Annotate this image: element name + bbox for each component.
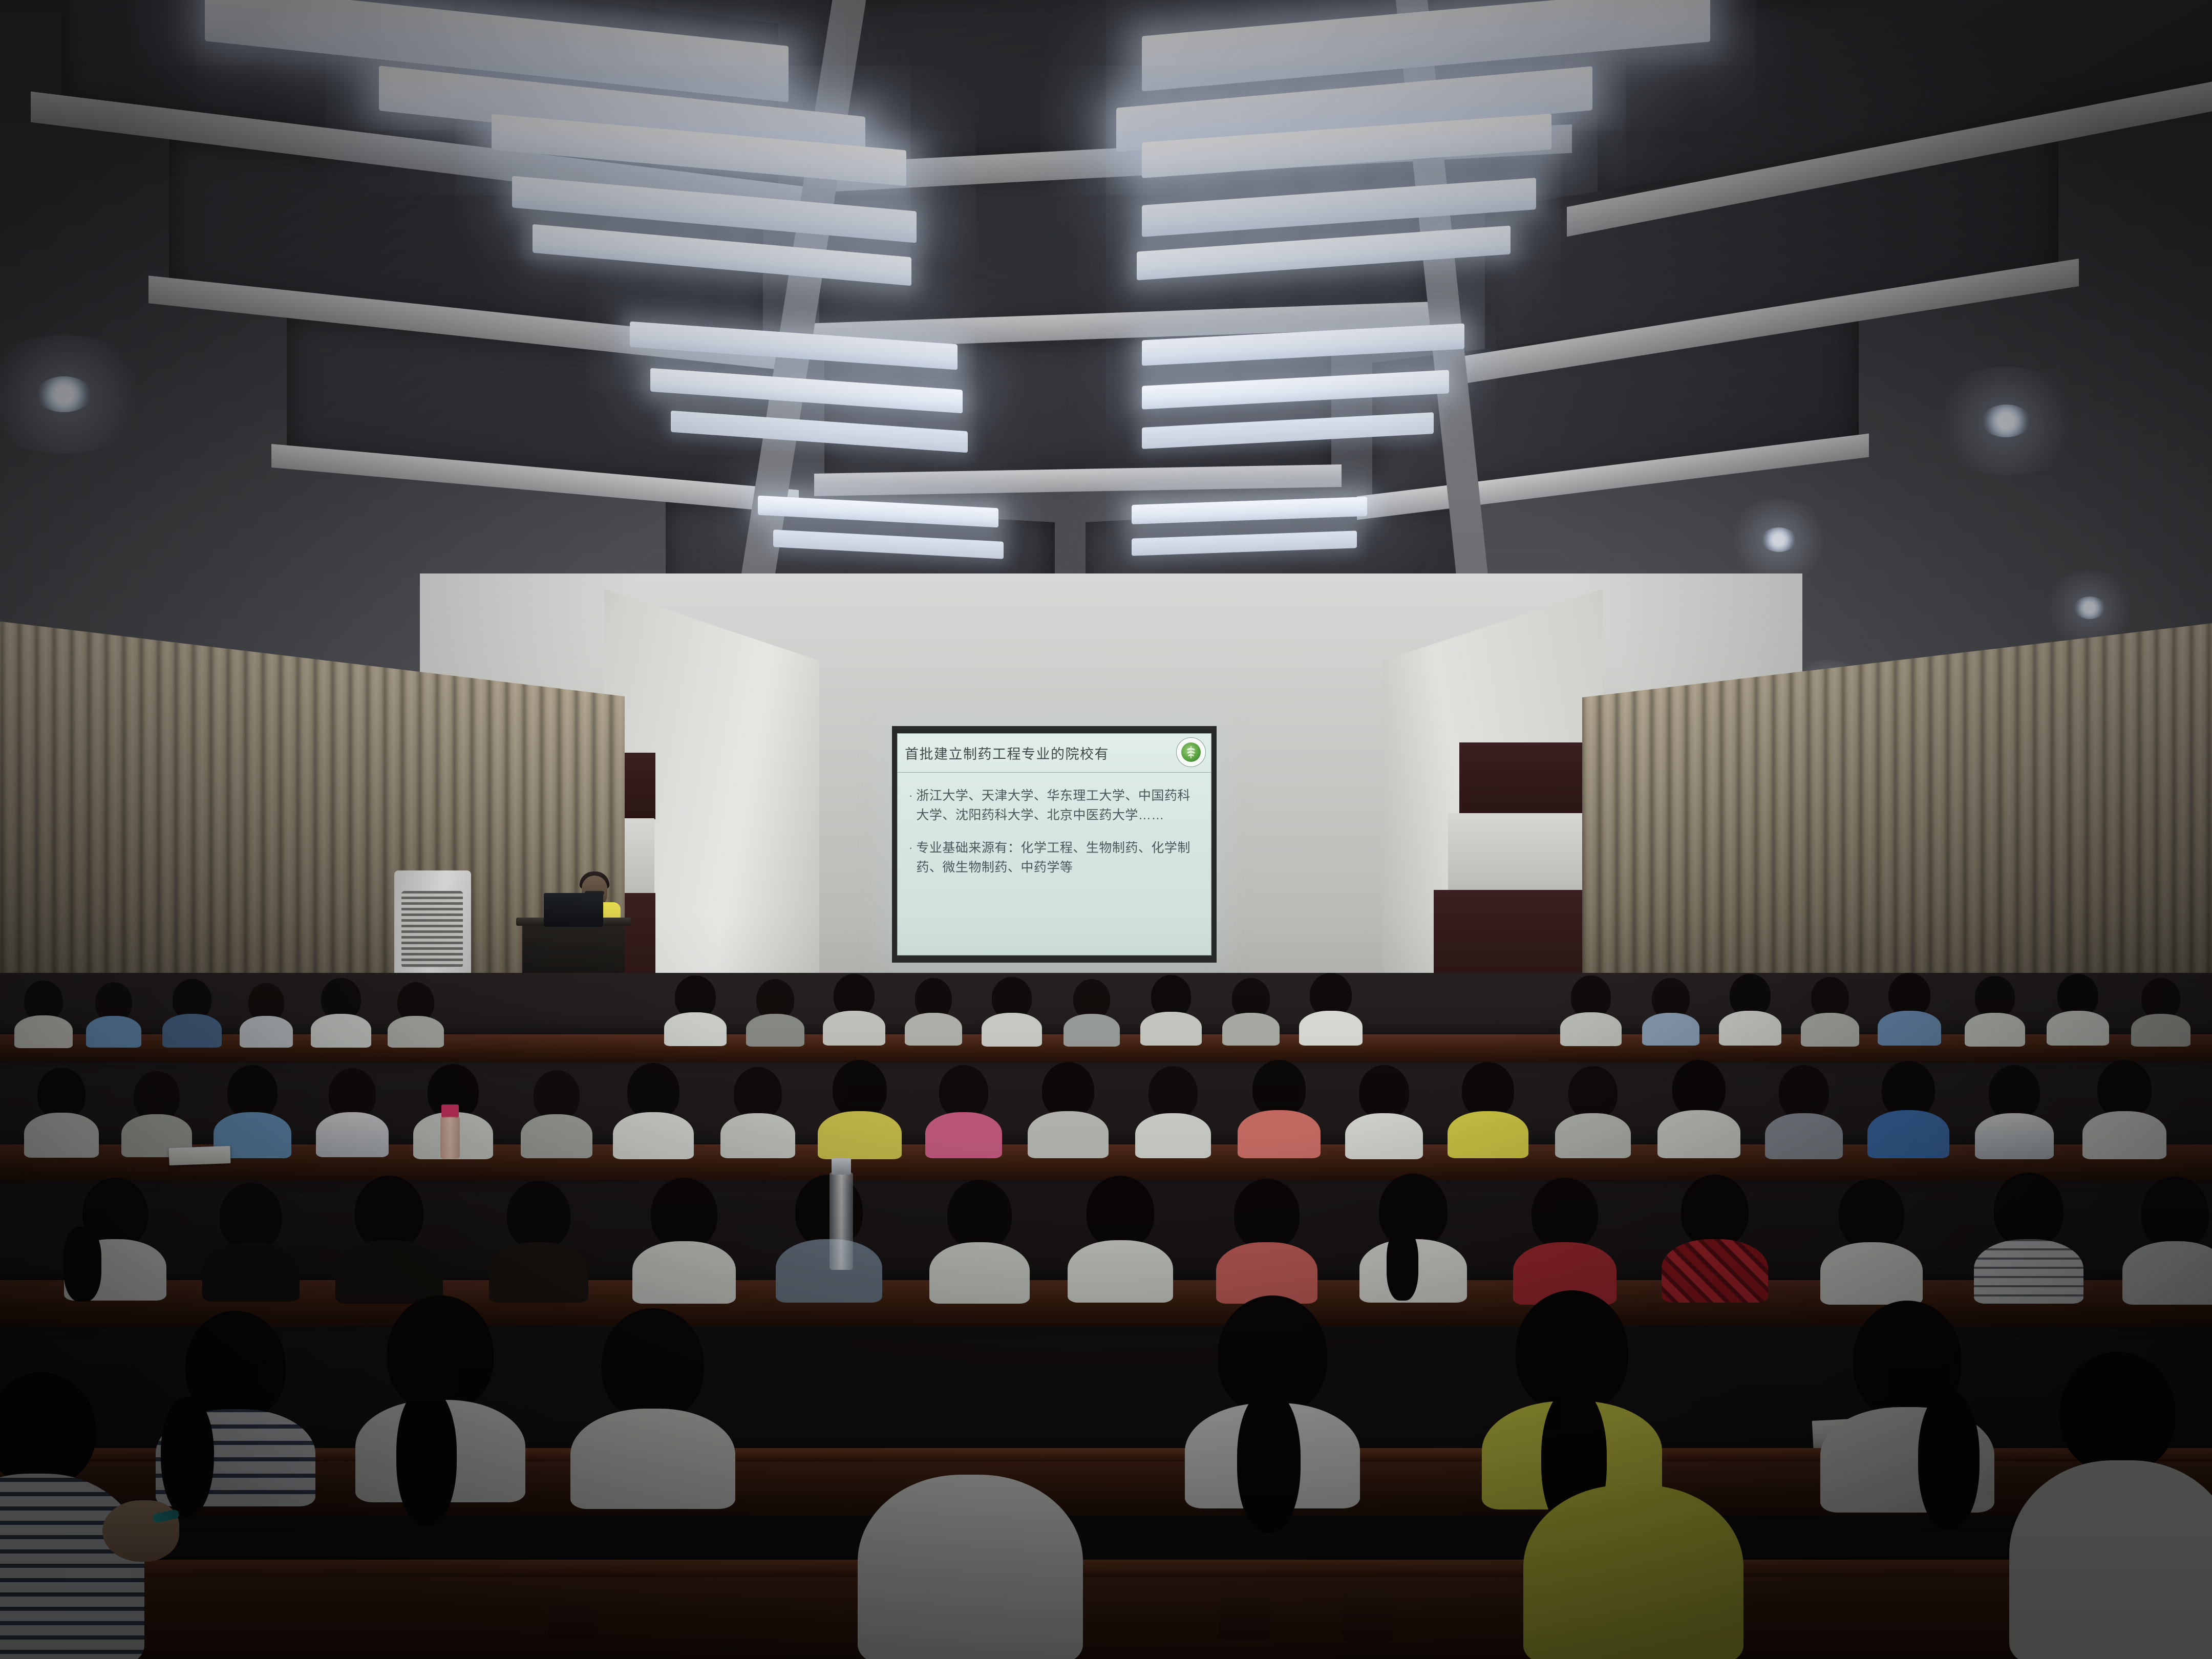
drink-bottle-cap (441, 1104, 459, 1118)
person-torso (1965, 1013, 2025, 1047)
audience-member (358, 1295, 522, 1495)
audience-member (2048, 974, 2108, 1041)
audience-member (1557, 1066, 1629, 1156)
person-head (2141, 978, 2180, 1019)
person-torso (86, 1016, 141, 1048)
audience-member (1869, 1061, 1948, 1156)
person-torso (1345, 1113, 1423, 1159)
person-torso (632, 1241, 736, 1304)
person-hair-ponytail (1387, 1229, 1418, 1301)
slide-bullet-text: 专业基础来源有：化学工程、生物制药、化学制药、微生物制药、中药学等 (916, 838, 1202, 877)
audience-member (1065, 979, 1118, 1043)
audience-member (1966, 976, 2024, 1043)
person-torso (823, 1011, 885, 1046)
person-torso (2122, 1241, 2212, 1305)
audience-member (1137, 1066, 1209, 1156)
audience-member (164, 979, 220, 1043)
person-torso (2009, 1460, 2212, 1659)
person-head (220, 1183, 282, 1250)
audience-member (1976, 1173, 2081, 1300)
person-torso (388, 1016, 444, 1048)
person-head (1672, 1060, 1726, 1117)
audience-member (205, 1183, 297, 1295)
audience-member (614, 1063, 692, 1156)
person-torso (24, 1113, 99, 1158)
audience-member (1879, 973, 1940, 1041)
audience-member (338, 1176, 440, 1299)
audience-member (824, 974, 884, 1041)
person-torso (14, 1015, 73, 1048)
audience-member (1347, 1065, 1421, 1157)
person-torso (1765, 1113, 1843, 1159)
audience-member (1301, 973, 1361, 1041)
person-head (329, 1068, 376, 1119)
audience-member-foreground-right (2028, 1352, 2212, 1659)
audience-member (1767, 1065, 1841, 1157)
person-head (1681, 1175, 1749, 1247)
ceiling-downlight (1982, 405, 2031, 437)
paper-handout (168, 1146, 230, 1165)
audience-member (1823, 1301, 1992, 1505)
audience-member-foreground-white (860, 1475, 1080, 1659)
person-torso (240, 1016, 293, 1048)
projected-slide: 首批建立制药工程专业的院校有 · 浙江大学、 (897, 733, 1211, 955)
ceiling-downlight (36, 376, 92, 412)
person-head (1042, 1062, 1094, 1118)
leaf-icon (1181, 742, 1201, 762)
audience-member (778, 1175, 880, 1299)
person-hair-ponytail (1237, 1391, 1301, 1533)
audience-member (1802, 977, 1858, 1043)
person-torso (664, 1012, 727, 1046)
audience-member (159, 1311, 312, 1495)
person-torso (162, 1014, 222, 1048)
person-torso (202, 1242, 300, 1302)
person-torso (1560, 1012, 1622, 1046)
audience-member (635, 1178, 733, 1299)
bench-post-cap (1342, 1583, 1395, 1640)
audience-member (927, 1065, 1001, 1156)
person-head (1087, 1176, 1154, 1248)
person-head (1811, 977, 1849, 1018)
person-head (355, 1176, 423, 1249)
person-torso (1222, 1013, 1280, 1046)
person-hair-ponytail (63, 1227, 101, 1302)
person-head (507, 1181, 570, 1249)
person-torso (1135, 1113, 1211, 1158)
audience-member (722, 1067, 794, 1156)
person-head (602, 1308, 704, 1420)
person-head (1073, 979, 1110, 1019)
person-head (1359, 1065, 1409, 1119)
person-torso (2082, 1111, 2166, 1159)
person-torso (1064, 1014, 1120, 1047)
audience-member (932, 1180, 1027, 1299)
person-head (1568, 1066, 1618, 1119)
slide-body: · 浙江大学、天津大学、华东理工大学、中国药科大学、沈阳药科大学、北京中医药大学… (898, 773, 1211, 955)
person-torso (905, 1013, 962, 1046)
person-torso (982, 1013, 1042, 1047)
person-head (734, 1067, 782, 1119)
slide-bullet: · 浙江大学、天津大学、华东理工大学、中国药科大学、沈阳药科大学、北京中医药大学… (908, 786, 1202, 825)
bullet-dot-icon: · (909, 842, 912, 854)
person-torso (1555, 1113, 1631, 1158)
person-torso (311, 1014, 371, 1048)
audience-member (215, 1065, 290, 1155)
audience-member (573, 1308, 732, 1498)
person-torso (1975, 1113, 2054, 1159)
audience-member (1485, 1290, 1659, 1500)
audience-member (492, 1181, 586, 1298)
person-head (1839, 1179, 1904, 1249)
person-torso (1642, 1013, 1699, 1046)
audience-member (15, 981, 72, 1042)
person-head (534, 1070, 580, 1120)
person-head (1975, 976, 2015, 1018)
person-torso (1657, 1110, 1740, 1158)
audience-member (1659, 1060, 1739, 1156)
audience-member (1720, 974, 1780, 1041)
person-torso (1299, 1011, 1363, 1046)
person-head (947, 1180, 1012, 1249)
person-head (227, 1065, 278, 1119)
audience-member (906, 978, 961, 1043)
audience-member (26, 1068, 97, 1155)
audience-member (1070, 1176, 1171, 1299)
audience-member (241, 983, 292, 1043)
presenter-laptop (544, 893, 603, 927)
audience-member (312, 978, 370, 1043)
person-torso (1448, 1111, 1528, 1158)
audience-member (389, 982, 442, 1043)
audience-member (1823, 1179, 1920, 1300)
audience-member (2125, 1177, 2212, 1301)
person-torso (1719, 1011, 1781, 1046)
person-torso (2131, 1014, 2190, 1047)
audience-member (1239, 1060, 1319, 1156)
person-torso (2047, 1011, 2109, 1046)
water-bottle (829, 1173, 853, 1270)
person-head (0, 1372, 96, 1486)
person-hair-ponytail (396, 1388, 457, 1526)
bullet-dot-icon: · (909, 790, 912, 801)
audience-member (1449, 1062, 1527, 1156)
audience-member (522, 1070, 591, 1156)
audience-member (1516, 1178, 1614, 1300)
person-torso (1974, 1239, 2083, 1304)
lecture-hall-photo: 首批建立制药工程专业的院校有 · 浙江大学、 (0, 0, 2212, 1659)
audience-member (1362, 1174, 1464, 1299)
person-head (37, 1068, 86, 1120)
ceiling-downlight (2074, 597, 2105, 619)
person-head (1234, 1179, 1300, 1249)
air-conditioner-grille (401, 891, 463, 968)
person-head (1989, 1065, 2040, 1120)
bench-post-cap (548, 1586, 597, 1640)
audience-member (1219, 1179, 1315, 1299)
person-head (1532, 1178, 1598, 1249)
person-head (2060, 1352, 2176, 1473)
slide-bullet: · 专业基础来源有：化学工程、生物制药、化学制药、微生物制药、中药学等 (908, 838, 1202, 877)
person-torso (1820, 1242, 1923, 1305)
audience-member (1142, 975, 1200, 1041)
person-torso (1801, 1013, 1859, 1047)
person-torso (1523, 1485, 1743, 1659)
audience-member-foreground-yellow (1526, 1485, 1741, 1659)
person-torso (858, 1475, 1083, 1659)
person-hair-ponytail (1918, 1391, 1980, 1530)
person-head (627, 1063, 679, 1119)
audience-member (2084, 1060, 2165, 1157)
person-torso (335, 1240, 443, 1304)
audience-member (1188, 1295, 1357, 1500)
person-torso (720, 1113, 795, 1158)
person-torso (489, 1242, 588, 1303)
person-head (1994, 1173, 2064, 1247)
person-head (1779, 1065, 1829, 1119)
person-torso (818, 1111, 902, 1159)
person-torso (1028, 1111, 1109, 1158)
person-torso (746, 1014, 804, 1047)
person-torso (0, 1474, 144, 1659)
person-head (651, 1178, 717, 1249)
person-head (1462, 1062, 1514, 1118)
person-torso (1068, 1240, 1173, 1303)
audience-member (1976, 1065, 2052, 1157)
person-torso (776, 1239, 882, 1303)
slide-title: 首批建立制药工程专业的院校有 (905, 743, 1109, 763)
audience-member (748, 979, 803, 1043)
person-torso (521, 1114, 592, 1158)
person-hair-ponytail (161, 1397, 214, 1518)
person-torso (929, 1242, 1030, 1304)
water-bottle-cap (832, 1158, 851, 1175)
person-torso (1878, 1011, 1941, 1046)
person-torso (1662, 1239, 1768, 1303)
person-torso (570, 1409, 735, 1509)
person-head (2141, 1177, 2209, 1249)
bench-row-nearest (0, 1567, 2212, 1659)
audience-member (1644, 978, 1698, 1043)
audience-member (87, 982, 140, 1043)
person-torso (1140, 1012, 1202, 1046)
person-torso (1867, 1110, 1949, 1158)
slide-title-row: 首批建立制药工程专业的院校有 (898, 734, 1211, 773)
audience-member (819, 1060, 900, 1156)
audience-member (123, 1071, 190, 1155)
university-leaf-emblem-icon (1176, 737, 1206, 767)
person-head (1148, 1066, 1198, 1119)
person-hand (102, 1500, 179, 1562)
audience-member (666, 975, 725, 1042)
audience-member (2133, 978, 2189, 1043)
person-head (2097, 1060, 2152, 1118)
person-torso (925, 1112, 1002, 1158)
audience-member (67, 1178, 164, 1295)
slide-bullet-text: 浙江大学、天津大学、华东理工大学、中国药科大学、沈阳药科大学、北京中医药大学…… (916, 786, 1202, 825)
person-torso (316, 1112, 389, 1157)
person-torso (1238, 1110, 1321, 1158)
person-head (1252, 1060, 1306, 1117)
ceiling-downlight (1761, 527, 1796, 552)
audience-member (317, 1068, 387, 1155)
audience-member (1224, 978, 1278, 1043)
audience-member (1029, 1062, 1107, 1156)
person-head (833, 1060, 887, 1118)
bench-desk-surface-near (0, 1560, 2212, 1577)
audience-member (983, 977, 1040, 1043)
person-torso (613, 1112, 694, 1159)
bench-post-cap (1219, 1583, 1272, 1640)
drink-bottle (440, 1117, 460, 1159)
person-torso (1216, 1242, 1317, 1304)
person-head (939, 1065, 988, 1118)
audience-member (1664, 1175, 1766, 1299)
audience-member (1562, 975, 1620, 1042)
